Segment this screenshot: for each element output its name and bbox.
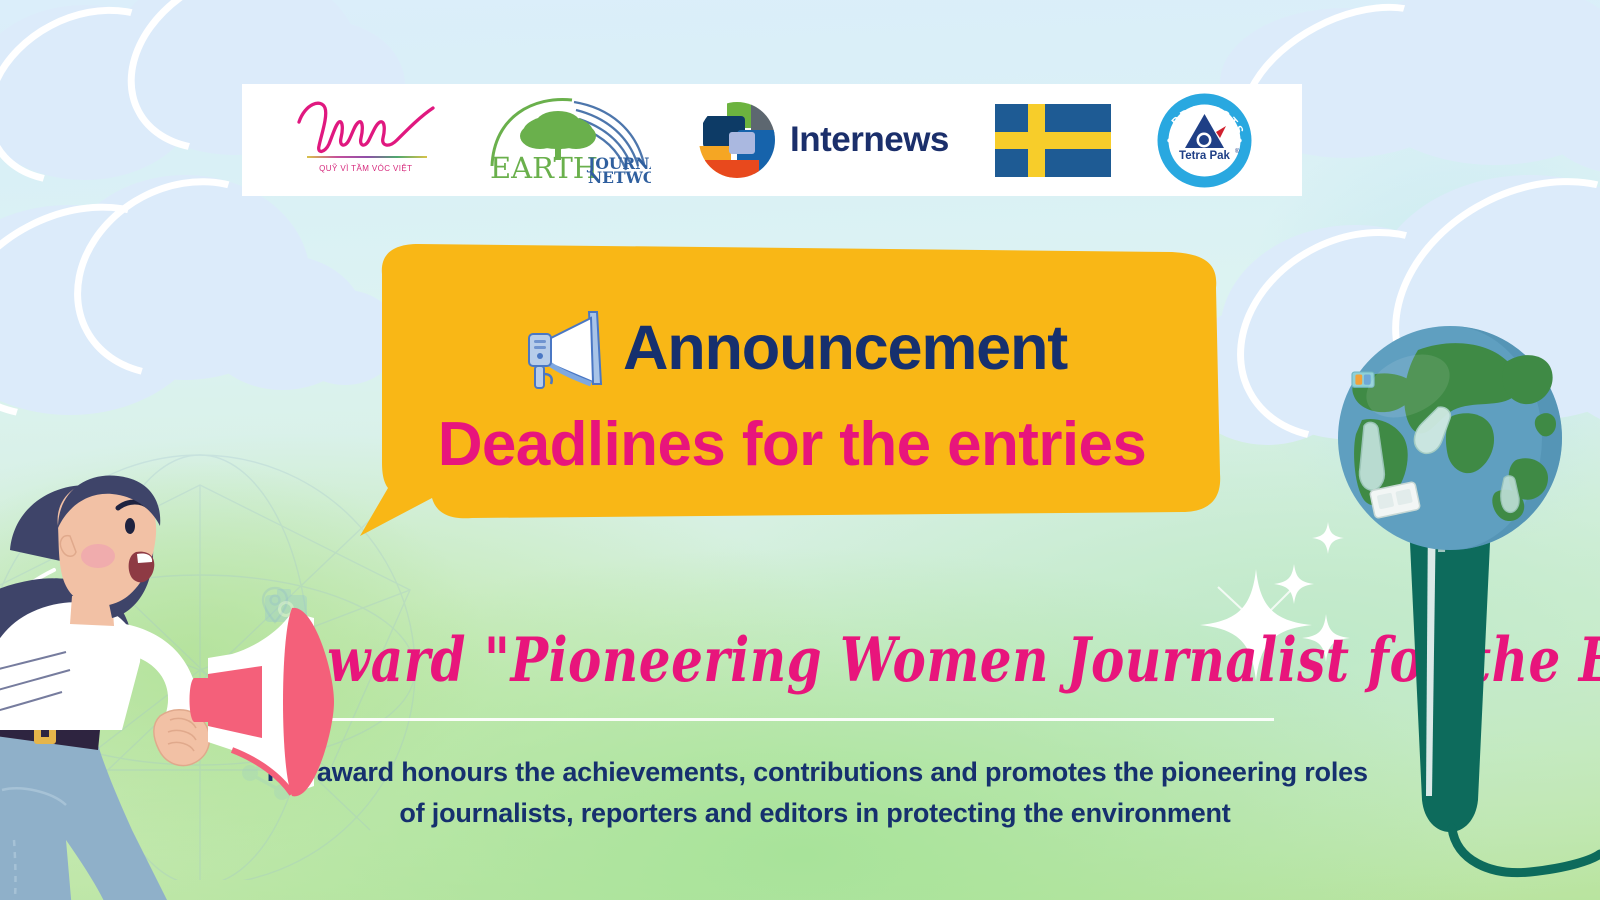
internews-mark-icon — [697, 100, 777, 180]
megaphone-icon — [517, 300, 613, 396]
globe-microphone-illustration — [1300, 320, 1600, 900]
woman-with-megaphone-illustration — [0, 430, 362, 900]
award-script-headline: Award "Pioneering Women Journalist for t… — [290, 624, 1290, 696]
announcement-subtitle: Deadlines for the entries — [438, 414, 1147, 476]
award-description-line-2: of journalists, reporters and editors in… — [200, 793, 1430, 834]
svg-text:NETWORK: NETWORK — [588, 168, 651, 186]
headline-divider — [296, 718, 1274, 721]
logo-true: QUỸ VÌ TẦM VÓC VIỆT — [291, 96, 441, 184]
true-tagline: QUỸ VÌ TẦM VÓC VIỆT — [291, 164, 441, 173]
svg-text:EARTH: EARTH — [490, 151, 598, 185]
true-script-mark-icon — [291, 96, 441, 158]
tetra-pak-mark-icon: PROTECTS WHAT'S GOOD Tetra Pak ® — [1156, 92, 1253, 189]
ejn-mark-icon: EARTH JOURNALISM NETWORK — [486, 94, 651, 186]
internews-wordmark: Internews — [790, 120, 949, 160]
svg-text:®: ® — [1235, 148, 1240, 155]
logo-earth-journalism-network: EARTH JOURNALISM NETWORK — [486, 94, 651, 186]
logo-sweden-flag — [995, 104, 1111, 177]
award-description-line-1: The award honours the achievements, cont… — [200, 752, 1430, 793]
logo-internews: Internews — [697, 100, 949, 180]
svg-text:Tetra Pak: Tetra Pak — [1179, 150, 1231, 162]
logo-tetra-pak: PROTECTS WHAT'S GOOD Tetra Pak ® — [1156, 92, 1253, 189]
award-description: The award honours the achievements, cont… — [200, 752, 1430, 834]
announcement-speech-bubble: Announcement Deadlines for the entries — [352, 236, 1232, 546]
announcement-title: Announcement — [623, 317, 1067, 380]
sponsor-logo-bar: QUỸ VÌ TẦM VÓC VIỆT — [242, 84, 1302, 196]
poster-canvas: QUỸ VÌ TẦM VÓC VIỆT — [0, 0, 1600, 900]
true-color-bar — [307, 156, 427, 158]
